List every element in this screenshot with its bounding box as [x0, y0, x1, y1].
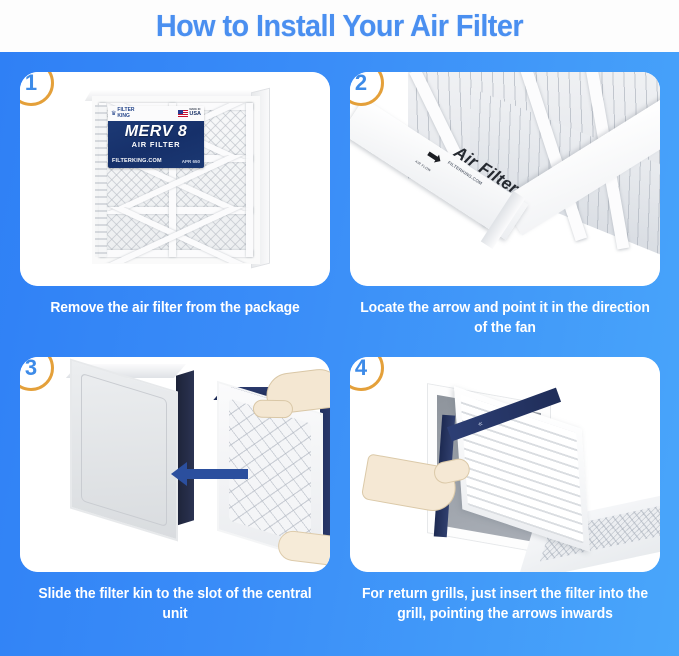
steps-grid: ♛ FILTER KING MADE IN USA [0, 52, 679, 656]
central-unit-face [70, 358, 178, 541]
brand-lockup: ♛ FILTER KING [111, 108, 135, 119]
crown-icon: ♛ [111, 111, 116, 117]
website-text: FILTERKING.COM [112, 158, 162, 164]
product-label: ♛ FILTER KING MADE IN USA [108, 106, 204, 168]
brand-name: FILTER KING [117, 108, 134, 119]
hand-lower [276, 529, 330, 567]
step-1-caption: Remove the air filter from the package [26, 298, 324, 318]
usa-flag-icon [178, 110, 188, 117]
step-4: « 4 For return grills, just insert the f… [350, 357, 670, 624]
step-2: ➡ AIR FLOW Air Filter FILTERKING.COM 2 L… [350, 72, 670, 338]
step-1-card: ♛ FILTER KING MADE IN USA [20, 72, 330, 286]
product-label-footer: FILTERKING.COM APR 650 [112, 158, 200, 164]
product-subtitle: AIR FILTER [108, 140, 204, 149]
step-4-card: « 4 [350, 357, 660, 572]
step-2-card: ➡ AIR FLOW Air Filter FILTERKING.COM 2 [350, 72, 660, 286]
page-title: How to Install Your Air Filter [156, 8, 523, 44]
step-2-illustration: ➡ AIR FLOW Air Filter FILTERKING.COM [350, 72, 660, 286]
infographic-root: How to Install Your Air Filter [0, 0, 679, 656]
hand-inserting-filter [361, 453, 460, 514]
merv-rating: MERV 8 [108, 123, 204, 141]
made-in-usa-badge: MADE IN USA [178, 109, 201, 117]
country-label: MADE IN USA [189, 109, 201, 117]
filter-pleat-edge [95, 105, 107, 257]
country-text: USA [189, 111, 201, 117]
step-1: ♛ FILTER KING MADE IN USA [20, 72, 340, 318]
step-1-illustration: ♛ FILTER KING MADE IN USA [20, 72, 330, 286]
step-4-caption: For return grills, just insert the filte… [356, 584, 654, 624]
step-3-card: « 3 [20, 357, 330, 572]
product-label-header: ♛ FILTER KING MADE IN USA [108, 106, 204, 121]
header-band: How to Install Your Air Filter [0, 0, 679, 52]
step-4-illustration: « [350, 357, 660, 572]
step-3: « 3 Slide the filter kin to the slot of … [20, 357, 340, 624]
step-3-illustration: « [20, 357, 330, 572]
step-3-caption: Slide the filter kin to the slot of the … [26, 584, 324, 624]
left-arrow-icon [186, 469, 248, 479]
brand-line-2: KING [117, 113, 130, 119]
hand-upper [264, 367, 330, 416]
step-2-caption: Locate the arrow and point it in the dir… [356, 298, 654, 338]
central-unit-slot [176, 370, 194, 526]
apr-text: APR 650 [182, 159, 200, 164]
